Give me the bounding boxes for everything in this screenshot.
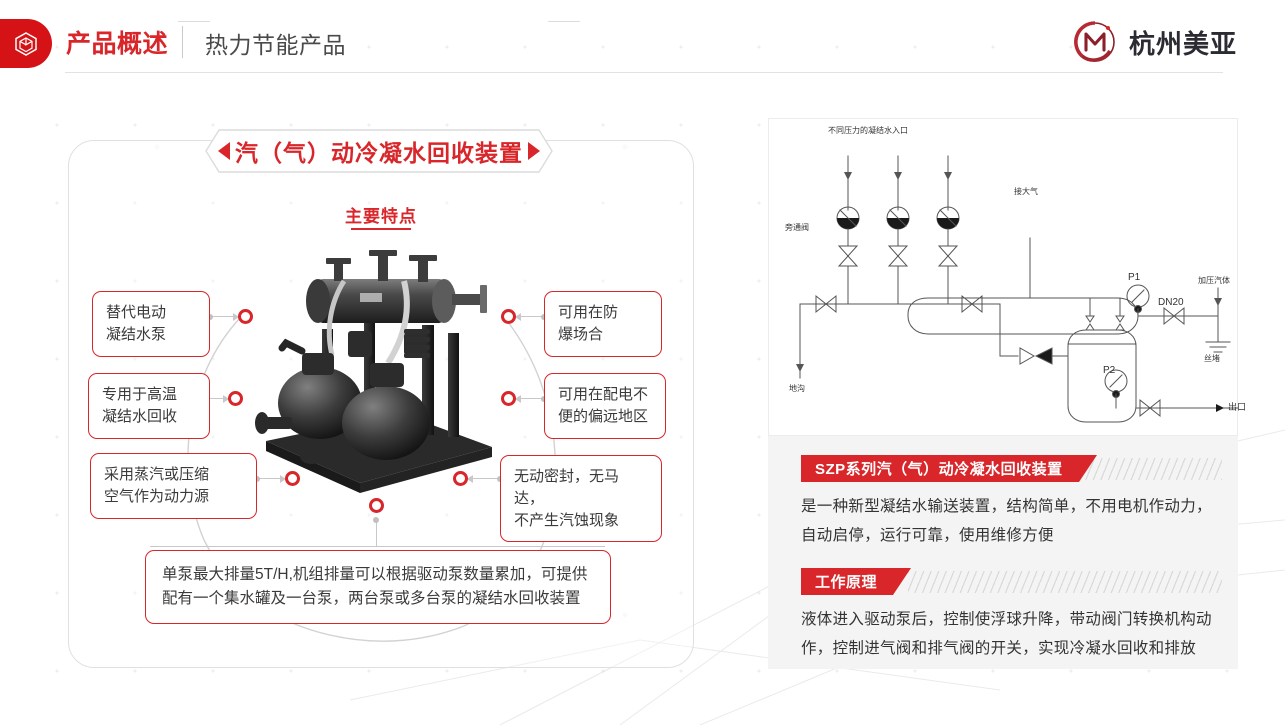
- diagram-label-inlet: 不同压力的凝结水入口: [828, 125, 908, 136]
- cube-hex-icon: [13, 31, 39, 57]
- features-subtitle: 主要特点: [0, 202, 762, 227]
- diagram-label-bypass-valve: 旁通阀: [785, 222, 809, 233]
- diagram-label-to-atmosphere: 接大气: [1014, 186, 1038, 197]
- connector-line-6: [516, 398, 544, 399]
- callout-line: 专用于高温 凝结水回收: [102, 384, 196, 428]
- diagram-label-outlet: 出口: [1228, 400, 1246, 413]
- diagram-label-pressurized-gas: 加压汽体: [1198, 275, 1230, 286]
- callout-line: 无动密封，无马达， 不产生汽蚀现象: [514, 466, 648, 531]
- summary-line-2: 配有一个集水罐及一台泵，两台泵或多台泵的凝结水回收装置: [162, 587, 594, 611]
- diagram-label-p2: P2: [1103, 365, 1115, 376]
- slide-page: 产品概述 热力节能产品 杭州美亚 汽（气）动冷凝水回收装置 主要特点: [0, 0, 1285, 725]
- diagram-label-drain: 地沟: [789, 383, 805, 394]
- tag-hatch-2: [908, 571, 1222, 593]
- ribbon-title-banner: 汽（气）动冷凝水回收装置: [205, 129, 553, 173]
- brand-logo: 杭州美亚: [1070, 17, 1237, 67]
- feature-node-3: [285, 471, 300, 486]
- section1-line-1: 是一种新型凝结水输送装置，结构简单，不用电机作动力，: [801, 493, 1221, 522]
- header-rule: [65, 72, 1223, 73]
- page-header: 产品概述 热力节能产品 杭州美亚: [0, 0, 1285, 84]
- callout-line: 可用在配电不 便的偏远地区: [558, 384, 652, 428]
- feature-node-2: [228, 391, 243, 406]
- feature-node-5: [453, 471, 468, 486]
- feature-node-6: [501, 391, 516, 406]
- diagram-label-dn20: DN20: [1158, 297, 1184, 308]
- ribbon-title-text: 汽（气）动冷凝水回收装置: [235, 134, 523, 168]
- feature-node-1: [238, 309, 253, 324]
- section2-line-2: 作，控制进气阀和排气阀的开关，实现冷凝水回收和排放: [801, 635, 1231, 664]
- brand-name: 杭州美亚: [1129, 24, 1237, 61]
- header-badge: [0, 19, 52, 68]
- callout-line: 可用在防 爆场合: [558, 302, 648, 346]
- section1-line-2: 自动启停，运行可靠，使用维修方便: [801, 522, 1221, 551]
- meiya-m-logo-icon: [1070, 17, 1120, 67]
- section-tag-2: 工作原理: [801, 568, 893, 595]
- callout-box-1: 替代电动 凝结水泵: [92, 291, 210, 357]
- callout-box-3: 采用蒸汽或压缩 空气作为动力源: [90, 453, 257, 519]
- schematic-diagram: [768, 118, 1238, 436]
- callout-box-summary: 单泵最大排量5T/H,机组排量可以根据驱动泵数量累加，可提供 配有一个集水罐及一…: [145, 550, 611, 624]
- callout-line: 替代电动 凝结水泵: [106, 302, 196, 346]
- callout-box-4: 可用在防 爆场合: [544, 291, 662, 357]
- callout-box-2: 专用于高温 凝结水回收: [88, 373, 210, 439]
- section-tag-2-label: 工作原理: [801, 568, 893, 595]
- diagram-label-p1: P1: [1128, 272, 1140, 283]
- connector-line-3: [257, 478, 285, 479]
- callout-box-5: 可用在配电不 便的偏远地区: [544, 373, 666, 439]
- connector-line-5: [468, 478, 500, 479]
- feature-node-7: [501, 309, 516, 324]
- summary-line-1: 单泵最大排量5T/H,机组排量可以根据驱动泵数量累加，可提供: [162, 563, 594, 587]
- section-tag-1-label: SZP系列汽（气）动冷凝水回收装置: [801, 455, 1079, 482]
- section2-paragraph: 液体进入驱动泵后，控制使浮球升降，带动阀门转换机构动 作，控制进气阀和排气阀的开…: [801, 606, 1231, 663]
- product-photo: [252, 245, 504, 500]
- header-divider: [182, 26, 183, 58]
- features-subtitle-underline: [351, 228, 411, 230]
- page-subtitle: 热力节能产品: [205, 26, 346, 60]
- connector-line-1: [210, 316, 238, 317]
- connector-line-4-horizontal: [150, 546, 605, 547]
- connector-line-7: [516, 316, 544, 317]
- page-title: 产品概述: [66, 24, 168, 60]
- diagram-label-plug: 丝堵: [1204, 353, 1220, 364]
- ribbon-arrow-right-icon: [528, 142, 540, 160]
- section2-line-1: 液体进入驱动泵后，控制使浮球升降，带动阀门转换机构动: [801, 606, 1231, 635]
- ribbon-arrow-left-icon: [218, 142, 230, 160]
- connector-line-4: [376, 520, 377, 546]
- section1-paragraph: 是一种新型凝结水输送装置，结构简单，不用电机作动力， 自动启停，运行可靠，使用维…: [801, 493, 1221, 550]
- section-tag-1: SZP系列汽（气）动冷凝水回收装置: [801, 455, 1079, 482]
- callout-line: 采用蒸汽或压缩 空气作为动力源: [104, 464, 243, 508]
- feature-node-4: [369, 498, 384, 513]
- callout-box-6: 无动密封，无马达， 不产生汽蚀现象: [500, 455, 662, 542]
